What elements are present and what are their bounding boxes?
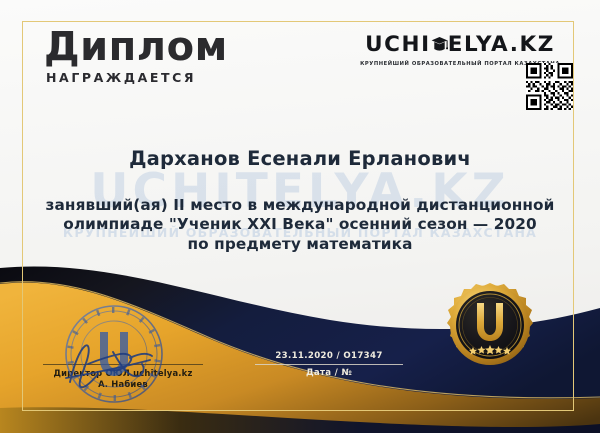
date-rule — [255, 364, 403, 365]
date-value: 23.11.2020 / O17347 — [249, 351, 409, 361]
brand-logo: UCHI ELYA.KZ — [360, 34, 560, 56]
certificate: UCHITELYA.KZ КРУПНЕЙШИЙ ОБРАЗОВАТЕЛЬНЫЙ … — [0, 0, 600, 433]
graduation-cap-icon — [431, 35, 448, 55]
qr-code-icon — [526, 63, 573, 110]
achievement-line-1: занявший(ая) II место в международной ди… — [0, 196, 600, 215]
handwritten-signature-icon — [58, 330, 178, 400]
date-block: 23.11.2020 / O17347 Дата / № — [249, 351, 409, 378]
gold-seal-icon — [437, 281, 543, 387]
achievement-line-3: по предмету математика — [0, 235, 600, 254]
page-title: Диплом — [44, 28, 228, 67]
brand-name-before: UCHI — [365, 34, 431, 56]
brand-name-after: ELYA.KZ — [448, 34, 555, 56]
page-subtitle: НАГРАЖДАЕТСЯ — [46, 70, 228, 85]
title-block: Диплом НАГРАЖДАЕТСЯ — [44, 28, 228, 85]
date-label: Дата / № — [249, 368, 409, 378]
recipient-name: Дарханов Есенали Ерланович — [0, 147, 600, 170]
achievement-text: занявший(ая) II место в международной ди… — [0, 196, 600, 254]
brand-block: UCHI ELYA.KZ КРУПНЕЙШИЙ ОБРАЗОВАТЕЛЬНЫЙ … — [360, 34, 560, 67]
achievement-line-2: олимпиаде "Ученик XXI Века" осенний сезо… — [0, 215, 600, 234]
